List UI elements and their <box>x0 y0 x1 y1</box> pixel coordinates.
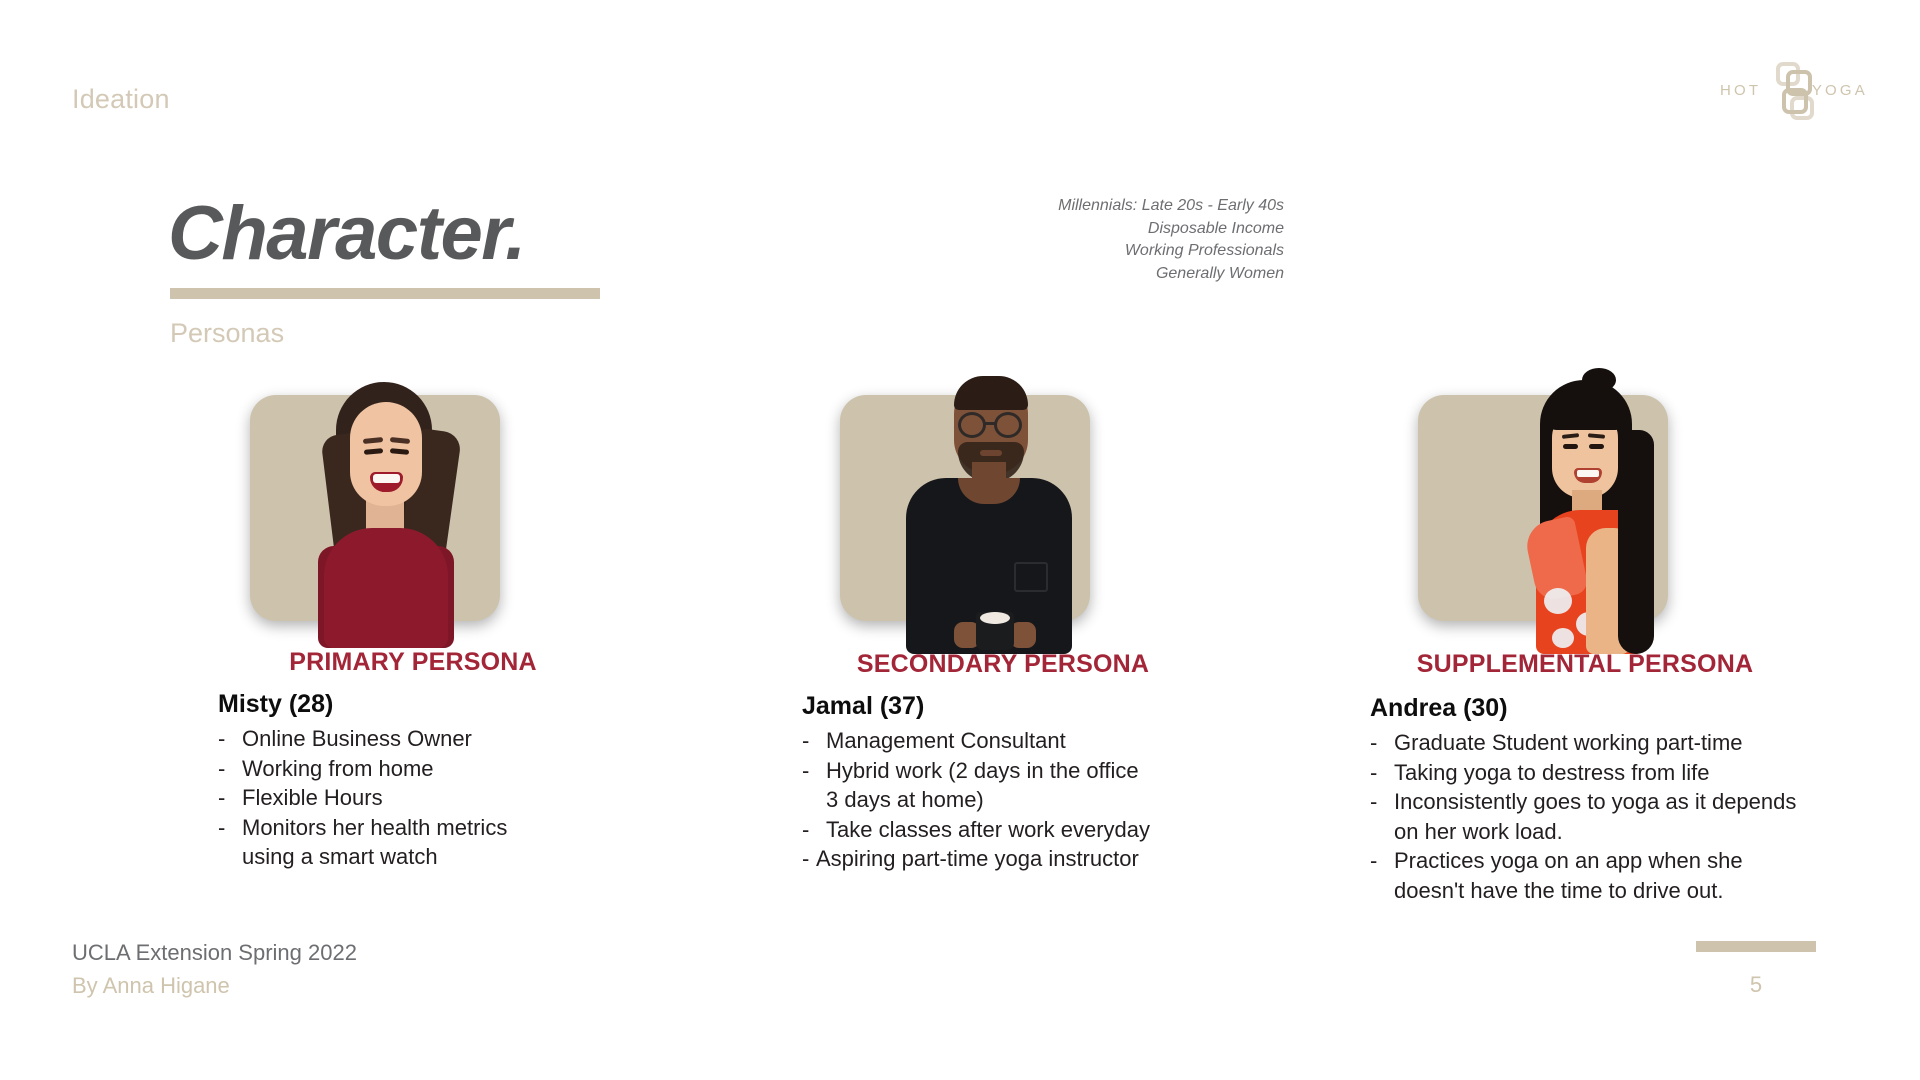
persona-name: Jamal (37) <box>802 692 924 721</box>
bullet-text: Working from home <box>242 754 678 784</box>
bullet-text: Online Business Owner <box>242 724 678 754</box>
page-number-rule <box>1696 941 1816 952</box>
persona-title: SUPPLEMENTAL PERSONA <box>1350 650 1820 679</box>
persona-card-primary: PRIMARY PERSONA Misty (28) - Online Busi… <box>178 0 648 1080</box>
bullet-item: - Online Business Owner <box>218 724 678 754</box>
footer-course-label: UCLA Extension Spring 2022 <box>72 940 357 966</box>
persona-card-supplemental: SUPPLEMENTAL PERSONA Andrea (30) - Gradu… <box>1358 0 1828 1080</box>
bullet-text: Taking yoga to destress from life <box>1394 758 1830 788</box>
bullet-text: Management Consultant <box>826 726 1262 756</box>
bullet-item: - Take classes after work everyday <box>802 815 1262 845</box>
persona-photo-jamal <box>808 350 1128 622</box>
bullet-text: Take classes after work everyday <box>826 815 1262 845</box>
persona-title: PRIMARY PERSONA <box>178 648 648 677</box>
bullet-text: Aspiring part-time yoga instructor <box>816 844 1262 874</box>
persona-bullet-list: - Online Business Owner - Working from h… <box>218 724 678 872</box>
bullet-dash: - <box>1370 728 1394 758</box>
bullet-text: Hybrid work (2 days in the office 3 days… <box>826 756 1262 815</box>
persona-name: Andrea (30) <box>1370 694 1508 723</box>
bullet-text: Inconsistently goes to yoga as it depend… <box>1394 787 1830 846</box>
persona-bullet-list: - Management Consultant - Hybrid work (2… <box>802 726 1262 874</box>
bullet-item: - Inconsistently goes to yoga as it depe… <box>1370 787 1830 846</box>
persona-card-secondary: SECONDARY PERSONA Jamal (37) - Managemen… <box>768 0 1238 1080</box>
bullet-dash: - <box>1370 758 1394 788</box>
bullet-dash: - <box>218 783 242 813</box>
persona-title: SECONDARY PERSONA <box>768 650 1238 679</box>
bullet-text: Practices yoga on an app when she doesn'… <box>1394 846 1830 905</box>
bullet-dash: - <box>802 726 826 756</box>
bullet-dash: - <box>1370 787 1394 817</box>
bullet-item: - Hybrid work (2 days in the office 3 da… <box>802 756 1262 815</box>
bullet-item: - Working from home <box>218 754 678 784</box>
bullet-dash: - <box>802 815 826 845</box>
bullet-item: - Taking yoga to destress from life <box>1370 758 1830 788</box>
bullet-dash: - <box>1370 846 1394 876</box>
persona-bullet-list: - Graduate Student working part-time - T… <box>1370 728 1830 905</box>
persona-photo-misty <box>218 350 538 622</box>
bullet-item: - Management Consultant <box>802 726 1262 756</box>
bullet-dash: - <box>218 724 242 754</box>
bullet-dash: - <box>802 756 826 786</box>
bullet-dash: - <box>802 844 816 874</box>
bullet-text: Graduate Student working part-time <box>1394 728 1830 758</box>
bullet-text: Monitors her health metrics using a smar… <box>242 813 678 872</box>
persona-photo-andrea <box>1386 350 1706 622</box>
bullet-text: Flexible Hours <box>242 783 678 813</box>
bullet-item: - Graduate Student working part-time <box>1370 728 1830 758</box>
section-label: Ideation <box>72 84 170 115</box>
persona-name: Misty (28) <box>218 690 333 719</box>
bullet-item: - Flexible Hours <box>218 783 678 813</box>
footer-author-label: By Anna Higane <box>72 973 230 999</box>
bullet-dash: - <box>218 813 242 843</box>
bullet-item: - Practices yoga on an app when she does… <box>1370 846 1830 905</box>
bullet-dash: - <box>218 754 242 784</box>
bullet-item: - Monitors her health metrics using a sm… <box>218 813 678 872</box>
page-number: 5 <box>1696 972 1816 998</box>
bullet-item: - Aspiring part-time yoga instructor <box>802 844 1262 874</box>
